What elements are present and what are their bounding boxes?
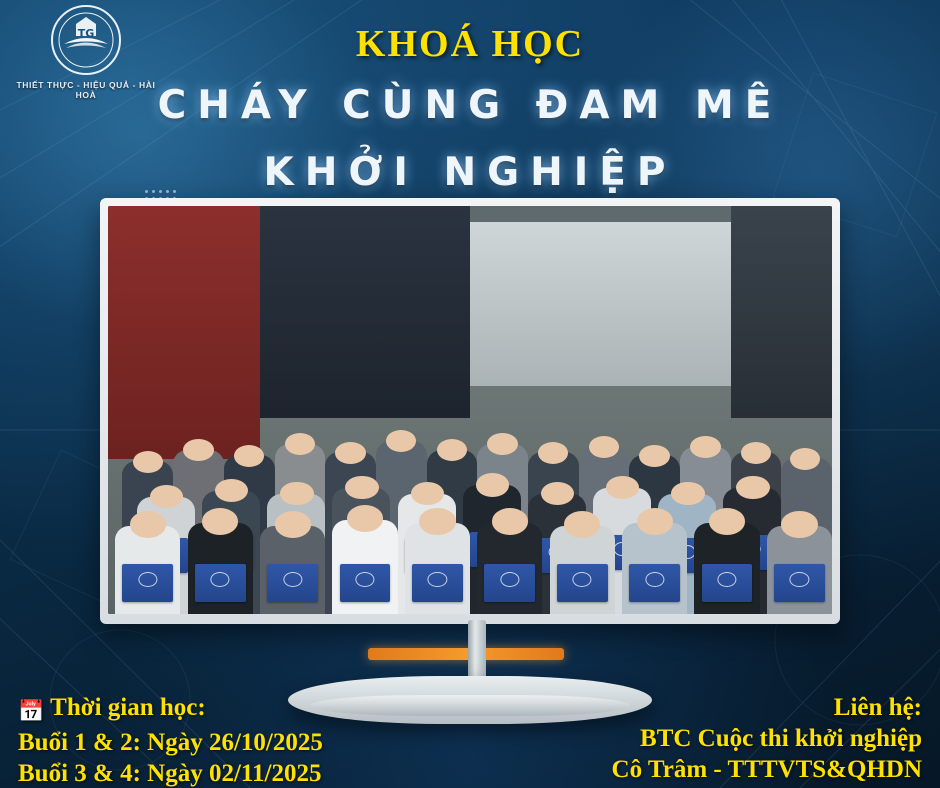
photo-crowd bbox=[108, 320, 832, 614]
contact-row-2: Cô Trâm - TTTVTS&QHDN bbox=[522, 754, 922, 785]
monitor-screen bbox=[108, 206, 832, 614]
title-line-2: CHÁY CÙNG ĐAM MÊ bbox=[0, 83, 940, 128]
schedule-block: 📅Thời gian học: Buổi 1 & 2: Ngày 26/10/2… bbox=[18, 692, 488, 788]
schedule-heading: Thời gian học: bbox=[50, 694, 206, 721]
contact-heading: Liên hệ: bbox=[522, 692, 922, 723]
schedule-heading-row: 📅Thời gian học: bbox=[18, 692, 488, 727]
monitor-orange-accent bbox=[368, 648, 564, 660]
page-title: KHOÁ HỌC bbox=[0, 22, 940, 66]
poster-canvas: TG THIẾT THỰC - HIỆU QUẢ - HÀI HOÀ KHOÁ … bbox=[0, 0, 940, 788]
contact-row-1: BTC Cuộc thi khởi nghiệp bbox=[522, 723, 922, 754]
contact-block: Liên hệ: BTC Cuộc thi khởi nghiệp Cô Trâ… bbox=[522, 692, 922, 785]
monitor-frame bbox=[100, 198, 840, 624]
schedule-row-1: Buổi 1 & 2: Ngày 26/10/2025 bbox=[18, 727, 488, 758]
calendar-icon: 📅 bbox=[18, 696, 44, 727]
title-line-3: KHỞI NGHIỆP bbox=[0, 150, 940, 195]
schedule-row-2: Buổi 3 & 4: Ngày 02/11/2025 bbox=[18, 758, 488, 788]
